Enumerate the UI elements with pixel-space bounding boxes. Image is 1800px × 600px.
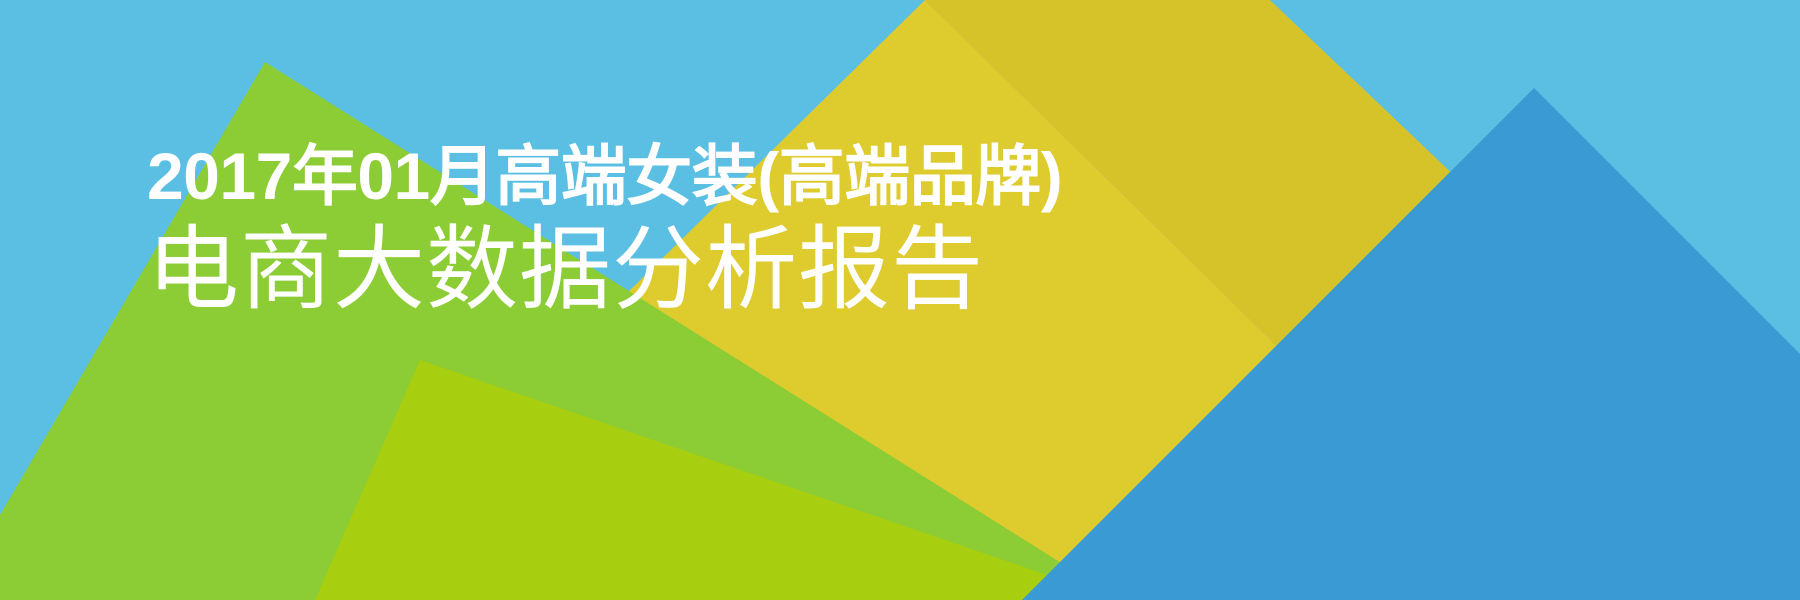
banner-background-art [0,0,1800,600]
report-cover-banner: 2017年01月高端女装(高端品牌) 电商大数据分析报告 [0,0,1800,600]
